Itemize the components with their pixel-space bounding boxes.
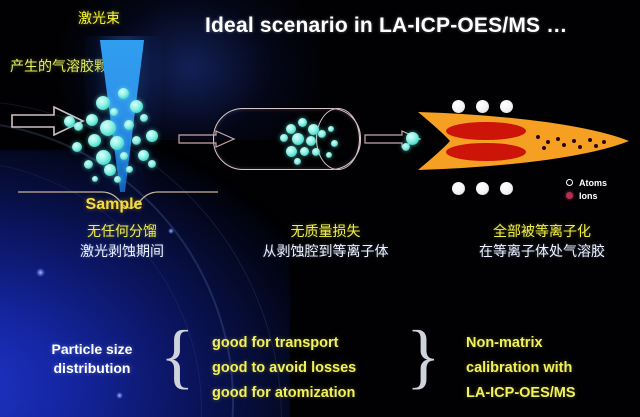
background-sparkle <box>36 268 45 277</box>
conclusion-line: Non-matrix <box>466 331 636 356</box>
slide-canvas: Ideal scenario in LA-ICP-OES/MS … 激光束 产生… <box>0 0 640 417</box>
conclusion-text: Non-matrix calibration with LA-ICP-OES/M… <box>466 331 636 406</box>
atom-marker <box>476 100 489 113</box>
atom-marker <box>452 182 465 195</box>
caption-middle: 无质量损失 从剥蚀腔到等离子体 <box>238 222 413 262</box>
atom-marker <box>476 182 489 195</box>
caption-middle-line2: 从剥蚀腔到等离子体 <box>238 242 413 262</box>
ablation-cell-face <box>316 108 360 170</box>
laser-beam-label: 激光束 <box>78 8 120 28</box>
conclusion-line: LA-ICP-OES/MS <box>466 381 636 406</box>
page-title: Ideal scenario in LA-ICP-OES/MS … <box>205 14 568 38</box>
caption-right-line1: 全部被等离子化 <box>452 222 632 242</box>
caption-left-line2: 激光剥蚀期间 <box>42 242 202 262</box>
caption-right-line2: 在等离子体处气溶胶 <box>452 242 632 262</box>
legend: Atoms Ions <box>566 176 607 202</box>
legend-label-ions: Ions <box>579 191 598 201</box>
benefit-item: good for transport <box>212 331 412 356</box>
brace-left: { <box>160 320 195 392</box>
brace-right: } <box>406 320 441 392</box>
caption-right: 全部被等离子化 在等离子体处气溶胶 <box>452 222 632 262</box>
conclusion-line: calibration with <box>466 356 636 381</box>
background-sparkle <box>116 392 123 399</box>
atoms-marker-icon <box>566 179 573 186</box>
ions-marker-icon <box>566 192 573 199</box>
plasma-inlet-particle <box>402 143 410 151</box>
caption-middle-line1: 无质量损失 <box>238 222 413 242</box>
atom-marker <box>500 100 513 113</box>
legend-item-atoms: Atoms <box>566 176 607 189</box>
gas-inlet-arrow-icon <box>178 130 236 153</box>
caption-left-line1: 无任何分馏 <box>42 222 202 242</box>
plasma-flame <box>416 110 631 172</box>
benefit-item: good to avoid losses <box>212 356 412 381</box>
caption-left: 无任何分馏 激光剥蚀期间 <box>42 222 202 262</box>
legend-item-ions: Ions <box>566 189 607 202</box>
sample-label: Sample <box>54 196 174 214</box>
legend-label-atoms: Atoms <box>579 178 607 188</box>
atom-marker <box>452 100 465 113</box>
benefit-item: good for atomization <box>212 381 412 406</box>
particle-size-distribution-label: Particle size distribution <box>22 340 162 378</box>
benefits-list: good for transport good to avoid losses … <box>212 331 412 406</box>
atom-marker <box>500 182 513 195</box>
